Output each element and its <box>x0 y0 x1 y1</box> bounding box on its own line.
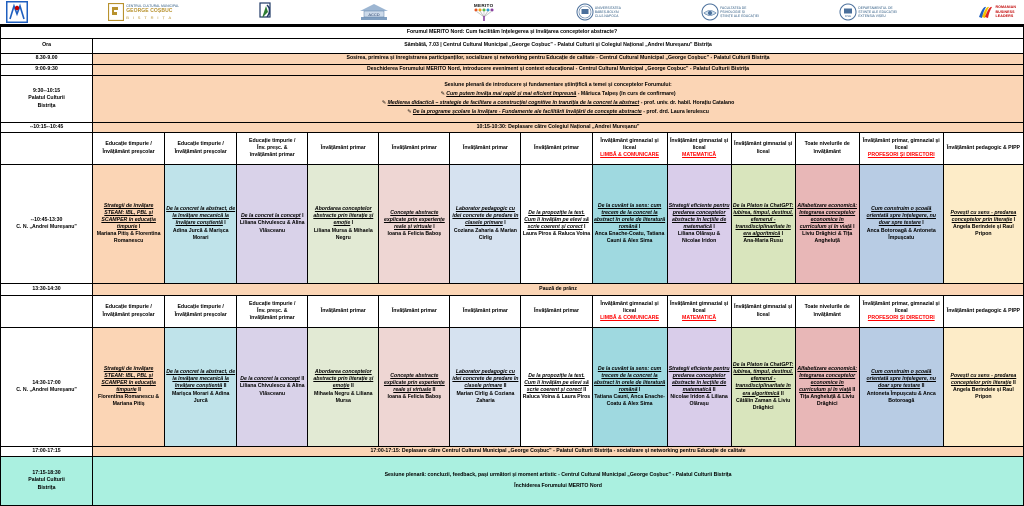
department-education-sciences-logo: DSE DEPARTAMENTUL DE ȘTIINȚE ALE EDUCAȚI… <box>839 0 897 24</box>
time-cell-session-2: 14:30-17:00 C. N. „Andrei Mureșanu" <box>1 328 93 447</box>
closing-plenary-cell: Sesiune plenară: concluzii, feedback, pa… <box>93 457 1024 506</box>
track-header-label: Învățământ gimnazial și liceal <box>669 301 730 315</box>
workshop-number: I <box>712 224 715 230</box>
workshop-number: II <box>920 383 924 389</box>
day-venue-header: Sâmbătă, 7.03 | Centrul Cultural Municip… <box>93 39 1024 54</box>
workshop-presenters: Liliana Olărașu & Nicolae Iridon <box>669 231 730 245</box>
table-row-registration-1: 8.30-9.00 Sosirea, primirea și înregistr… <box>1 54 1024 65</box>
time-cell-plenary: 9:30--10:15 Palatul Culturii Bistrița <box>1 76 93 123</box>
workshop-number: I <box>1012 217 1015 223</box>
opening-activity: Deschiderea Forumului MERITO Nord, intro… <box>93 65 1024 76</box>
workshop-number: II <box>137 387 141 393</box>
workshop-title: Abordarea conceptelor abstracte prin lit… <box>313 206 373 226</box>
track-header-13: Învățământ pedagogic & PIPP <box>943 133 1023 165</box>
workshop-number: II <box>431 387 435 393</box>
workshop-cell-7[interactable]: De la propoziție la text. Cum îi învățăm… <box>521 165 592 284</box>
track-header-11: Toate nivelurile de învățământ <box>795 133 859 165</box>
track-header-label: Educație timpurie / Înv. preșc. & învăță… <box>238 301 306 322</box>
time-cell: 17:00-17:15 <box>1 447 93 457</box>
workshop-presenters: Tița Angheluță & Liviu Drăghici <box>797 394 858 408</box>
plenary-session-cell: Sesiune plenară de introducere și fundam… <box>93 76 1024 123</box>
track-header-8: Învățământ gimnazial și licealLIMBĂ & CO… <box>592 296 667 328</box>
workshop-number: I <box>350 220 353 226</box>
sponsor-logo-bar: CENTRUL CULTURAL MUNICIPAL GEORGE COȘBUC… <box>0 0 1024 26</box>
plenary-item-title: De la programe școlare la învățare - Fun… <box>413 109 642 115</box>
workshop-number: I <box>301 213 304 219</box>
workshop-cell-6[interactable]: Laborator pedagogic cu idei concrete de … <box>450 328 521 447</box>
workshop-cell-2[interactable]: De la concret la abstract, de la învățar… <box>165 328 237 447</box>
workshop-number: I <box>780 231 783 237</box>
workshop-presenters: Adina Jurcă & Marișca Morari <box>166 228 235 242</box>
session-2-workshop-row: 14:30-17:00 C. N. „Andrei Mureșanu" Stra… <box>1 328 1024 447</box>
workshop-title: De la concret la concept <box>241 213 301 219</box>
table-row-day: Ora Sâmbătă, 7.03 | Centrul Cultural Mun… <box>1 39 1024 54</box>
track-header-5: Învățământ primar <box>379 296 450 328</box>
table-row-transfer-1: --10:15--10:45 10:15-10:30: Deplasare că… <box>1 123 1024 133</box>
time-col-blank-1 <box>1 133 93 165</box>
workshop-presenters: Mariana Pitiș & Florentina Romanescu <box>94 231 163 245</box>
track-header-label: Învățământ primar <box>309 145 377 152</box>
track-header-5: Învățământ primar <box>379 133 450 165</box>
workshop-title: Laborator pedagogic cu idei concrete de … <box>452 369 518 389</box>
track-header-label: Învățământ gimnazial și liceal <box>669 138 730 152</box>
workshop-number: I <box>432 224 435 230</box>
table-row-transfer-2: 17:00-17:15 17:00-17:15: Deplasare către… <box>1 447 1024 457</box>
track-header-9: Învățământ gimnazial și licealMATEMATICĂ <box>667 296 731 328</box>
ora-column-header: Ora <box>1 39 93 54</box>
workshop-title: Strategii de învățare STEAM: IBL, PBL și… <box>101 366 155 393</box>
logo-line: B I S T R I Ț A <box>126 15 179 20</box>
workshop-presenters: Ioana & Felicia Baboș <box>380 231 448 238</box>
workshop-cell-4[interactable]: Abordarea conceptelor abstracte prin lit… <box>308 165 379 284</box>
workshop-cell-3[interactable]: De la concret la concept IILiliana Chivu… <box>237 328 308 447</box>
workshop-presenters: Florentina Romanescu & Mariana Pitiș <box>94 394 163 408</box>
track-header-label: Învățământ primar <box>522 308 590 315</box>
workshop-presenters: Liviu Drăghici & Tița Angheluță <box>797 231 858 245</box>
workshop-presenters: Cătălin Zaman & Liviu Drăghici <box>733 398 794 412</box>
plenary-item-speaker: - prof. univ. dr. habil. Horațiu Catalan… <box>639 100 734 106</box>
workshop-presenters: Angela Berindeie și Raul Pripon <box>945 387 1022 401</box>
workshop-cell-5[interactable]: Concepte abstracte explicate prin experi… <box>379 165 450 284</box>
time-cell: --10:15--10:45 <box>1 123 93 133</box>
track-header-1: Educație timpurie / Învățământ preșcolar <box>93 133 165 165</box>
registration-activity: Sosirea, primirea și înregistrarea parti… <box>93 54 1024 65</box>
table-row-closing: 17:15-18:30 Palatul Culturii Bistrița Se… <box>1 457 1024 506</box>
workshop-cell-13[interactable]: Povești cu sens - predarea conceptelor p… <box>943 165 1023 284</box>
workshop-cell-8[interactable]: De la cuvânt la sens: cum trecem de la c… <box>592 328 667 447</box>
workshop-number: I <box>852 224 855 230</box>
session-1-workshop-row: --10:45-13:30 C. N. „Andrei Mureșanu" St… <box>1 165 1024 284</box>
track-header-label: Educație timpurie / Învățământ preșcolar <box>94 304 163 318</box>
workshop-cell-2[interactable]: De la concret la abstract, de la învățar… <box>165 165 237 284</box>
workshop-number: I <box>637 387 640 393</box>
time-col-blank-2 <box>1 296 93 328</box>
workshop-title: De la propoziție la text. Cum îi învățăm… <box>524 210 589 230</box>
track-header-label: Educație timpurie / Învățământ preșcolar <box>166 304 235 318</box>
track-header-label: Învățământ pedagogic & PIPP <box>945 308 1022 315</box>
workshop-cell-8[interactable]: De la cuvânt la sens: cum trecem de la c… <box>592 165 667 284</box>
romanian-business-leaders-logo: ROMANIAN BUSINESS LEADERS <box>977 0 1016 24</box>
workshop-presenters: Liliana Mursa & Mihaela Negru <box>309 228 377 242</box>
workshop-title: De la Platon la ChatGPT: iubirea, timpul… <box>733 203 793 237</box>
svg-text:ACCD: ACCD <box>369 12 380 17</box>
track-header-label: Învățământ primar <box>451 145 519 152</box>
workshop-title: Alfabetizare economică: Integrarea conce… <box>797 203 857 230</box>
cn-andrei-muresanu-logo <box>6 0 28 24</box>
track-header-7: Învățământ primar <box>521 296 592 328</box>
workshop-cell-12[interactable]: Cum construim o școală orientată spre în… <box>859 328 943 447</box>
forum-schedule-table: Forumul MERITO Nord: Cum facilităm înțel… <box>0 26 1024 506</box>
track-header-6: Învățământ primar <box>450 296 521 328</box>
track-header-3: Educație timpurie / Înv. preșc. & învăță… <box>237 133 308 165</box>
track-header-label: Educație timpurie / Învățământ preșcolar <box>94 141 163 155</box>
plenary-item: ✎ Cum putem învăța mai rapid și mai efic… <box>94 90 1022 99</box>
track-header-7: Învățământ primar <box>521 133 592 165</box>
workshop-presenters: Mihaela Negru & Liliana Mursa <box>309 391 377 405</box>
workshop-cell-13[interactable]: Povești cu sens - predarea conceptelor p… <box>943 328 1023 447</box>
workshop-presenters: Anca Enache-Coatu, Tatiana Cauni & Alex … <box>594 231 666 245</box>
track-header-label: Învățământ primar, gimnazial și liceal <box>861 301 942 315</box>
session-2-header-row: Educație timpurie / Învățământ preșcolar… <box>1 296 1024 328</box>
workshop-number: II <box>851 387 855 393</box>
transfer-activity-2: 17:00-17:15: Deplasare către Centrul Cul… <box>93 447 1024 457</box>
lunch-break: Pauză de prânz <box>93 284 1024 296</box>
table-row-plenary: 9:30--10:15 Palatul Culturii Bistrița Se… <box>1 76 1024 123</box>
track-header-subject: LIMBĂ & COMUNICARE <box>594 315 666 322</box>
workshop-cell-3[interactable]: De la concret la concept ILiliana Chivul… <box>237 165 308 284</box>
workshop-cell-6[interactable]: Laborator pedagogic cu idei concrete de … <box>450 165 521 284</box>
plenary-item-title: Cum putem învăța mai rapid și mai eficie… <box>446 91 576 97</box>
workshop-title: De la Platon la ChatGPT: iubirea, timpul… <box>733 362 793 396</box>
workshop-cell-11[interactable]: Alfabetizare economică: Integrarea conce… <box>795 328 859 447</box>
university-logo: UNIVERSITATEA BABEȘ-BOLYAI CLUJ-NAPOCA <box>576 0 621 24</box>
workshop-number: II <box>300 376 304 382</box>
workshop-title: De la propoziție la text. Cum îi învățăm… <box>524 373 589 393</box>
george-cosbuc-cultural-center-logo: CENTRUL CULTURAL MUNICIPAL GEORGE COȘBUC… <box>108 0 179 24</box>
time-cell: 13:30-14:30 <box>1 284 93 296</box>
track-header-label: Învățământ primar <box>380 145 448 152</box>
workshop-title: Concepte abstracte explicate prin experi… <box>384 210 445 230</box>
workshop-presenters: Nicolae Iridon & Liliana Olărașu <box>669 394 730 408</box>
workshop-presenters: Antoneta Împușcatu & Anca Botoroagă <box>861 391 942 405</box>
logo-line: ȘTIINȚE ALE EDUCAȚIEI <box>720 14 759 18</box>
track-header-label: Educație timpurie / Învățământ preșcolar <box>166 141 235 155</box>
workshop-presenters: Ana-Maria Rusu <box>733 238 794 245</box>
merito-logo: MERITO <box>472 0 496 24</box>
logo-line: GEORGE COȘBUC <box>126 8 179 14</box>
closing-line-1: Sesiune plenară: concluzii, feedback, pa… <box>94 470 1022 481</box>
track-header-label: Învățământ gimnazial și liceal <box>594 138 666 152</box>
workshop-presenters: Liliana Chivulescu & Alina Vlăsceanu <box>238 383 306 397</box>
workshop-presenters: Coziana Zaharia & Marian Cîrlig <box>451 228 519 242</box>
workshop-title: Povești cu sens - predarea conceptelor p… <box>951 210 1017 223</box>
logo-line: CLUJ-NAPOCA <box>595 14 621 18</box>
track-header-4: Învățământ primar <box>308 296 379 328</box>
workshop-number: II <box>711 387 715 393</box>
workshop-title: Abordarea conceptelor abstracte prin lit… <box>313 369 373 389</box>
workshop-title: Strategii eficiente pentru predarea conc… <box>669 366 730 393</box>
track-header-subject: PROFESORI ȘI DIRECTORI <box>861 152 942 159</box>
plenary-heading: Sesiune plenară de introducere și fundam… <box>94 81 1022 90</box>
workshop-presenters: Marișca Morari & Adina Jurcă <box>166 391 235 405</box>
workshop-number: II <box>222 383 226 389</box>
logo-line: EXTENSIA VIȘEU <box>858 14 897 18</box>
workshop-cell-10[interactable]: De la Platon la ChatGPT: iubirea, timpul… <box>731 328 795 447</box>
workshop-cell-4[interactable]: Abordarea conceptelor abstracte prin lit… <box>308 328 379 447</box>
logo-line: LEADERS <box>995 14 1016 18</box>
track-header-12: Învățământ primar, gimnazial și licealPR… <box>859 296 943 328</box>
plenary-item-speaker: - Măriuca Talpeș (în curs de confirmare) <box>576 91 675 97</box>
workshop-presenters: Ioana & Felicia Baboș <box>380 394 448 401</box>
track-header-label: Învățământ gimnazial și liceal <box>594 301 666 315</box>
workshop-presenters: Liliana Chivulescu & Alina Vlăsceanu <box>238 220 306 234</box>
track-header-label: Toate nivelurile de învățământ <box>797 304 858 318</box>
track-header-label: Învățământ primar <box>522 145 590 152</box>
workshop-title: Strategii de învățare STEAM: IBL, PBL și… <box>101 203 155 230</box>
track-header-subject: PROFESORI ȘI DIRECTORI <box>861 315 942 322</box>
workshop-number: I <box>583 224 586 230</box>
workshop-number: I <box>921 220 924 226</box>
track-header-11: Toate nivelurile de învățământ <box>795 296 859 328</box>
track-header-13: Învățământ pedagogic & PIPP <box>943 296 1023 328</box>
session-1-header-row: Educație timpurie / Învățământ preșcolar… <box>1 133 1024 165</box>
workshop-cell-11[interactable]: Alfabetizare economică: Integrarea conce… <box>795 165 859 284</box>
workshop-title: Concepte abstracte explicate prin experi… <box>384 373 445 393</box>
workshop-title: Cum construim o școală orientată spre în… <box>867 206 936 226</box>
workshop-cell-1[interactable]: Strategii de învățare STEAM: IBL, PBL și… <box>93 165 165 284</box>
workshop-title: De la concret la concept <box>240 376 300 382</box>
track-header-1: Educație timpurie / Învățământ preșcolar <box>93 296 165 328</box>
workshop-title: Laborator pedagogic cu idei concrete de … <box>452 206 518 226</box>
workshop-number: I <box>503 220 506 226</box>
workshop-cell-10[interactable]: De la Platon la ChatGPT: iubirea, timpul… <box>731 165 795 284</box>
page-title: Forumul MERITO Nord: Cum facilităm înțel… <box>1 27 1024 39</box>
time-cell: 8.30-9.00 <box>1 54 93 65</box>
workshop-presenters: Angela Berindeie și Raul Pripon <box>945 224 1022 238</box>
workshop-presenters: Anca Botoroagă & Antoneta Împușcatu <box>861 228 942 242</box>
workshop-cell-9[interactable]: Strategii eficiente pentru predarea conc… <box>667 328 731 447</box>
workshop-number: II <box>582 387 586 393</box>
track-header-9: Învățământ gimnazial și licealMATEMATICĂ <box>667 133 731 165</box>
plenary-item: ✎ Medierea didactică – strategie de faci… <box>94 99 1022 108</box>
transfer-activity: 10:15-10:30: Deplasare către Colegiul Na… <box>93 123 1024 133</box>
plenary-item: ✎ De la programe școlare la învățare - F… <box>94 108 1022 117</box>
track-header-12: Învățământ primar, gimnazial și licealPR… <box>859 133 943 165</box>
track-header-subject: LIMBĂ & COMUNICARE <box>594 152 666 159</box>
track-header-label: Învățământ primar, gimnazial și liceal <box>861 138 942 152</box>
plenary-item-title: Medierea didactică – strategie de facili… <box>388 100 640 106</box>
workshop-cell-9[interactable]: Strategii eficiente pentru predarea conc… <box>667 165 731 284</box>
time-cell: 9:00-9:30 <box>1 65 93 76</box>
track-header-3: Educație timpurie / Înv. preșc. & învăță… <box>237 296 308 328</box>
table-row-title: Forumul MERITO Nord: Cum facilităm înțel… <box>1 27 1024 39</box>
workshop-title: De la cuvânt la sens: cum trecem de la c… <box>594 203 665 230</box>
track-header-subject: MATEMATICĂ <box>669 315 730 322</box>
workshop-cell-5[interactable]: Concepte abstracte explicate prin experi… <box>379 328 450 447</box>
workshop-presenters: Marian Cîrlig & Coziana Zaharia <box>451 391 519 405</box>
table-row-lunch: 13:30-14:30 Pauză de prânz <box>1 284 1024 296</box>
accd-logo: ACCD <box>357 0 391 24</box>
track-header-4: Învățământ primar <box>308 133 379 165</box>
time-cell-closing: 17:15-18:30 Palatul Culturii Bistrița <box>1 457 93 506</box>
track-header-2: Educație timpurie / Învățământ preșcolar <box>165 296 237 328</box>
track-header-10: Învățământ gimnazial și liceal <box>731 133 795 165</box>
track-header-label: Educație timpurie / Înv. preșc. & învăță… <box>238 138 306 159</box>
workshop-presenters: Laura Piros & Raluca Voina <box>522 231 590 238</box>
track-header-label: Învățământ gimnazial și liceal <box>733 141 794 155</box>
track-header-label: Învățământ primar <box>309 308 377 315</box>
workshop-cell-12[interactable]: Cum construim o școală orientată spre în… <box>859 165 943 284</box>
workshop-title: Alfabetizare economică: Integrarea conce… <box>797 366 857 393</box>
workshop-number: I <box>137 224 140 230</box>
track-header-10: Învățământ gimnazial și liceal <box>731 296 795 328</box>
track-header-label: Învățământ primar <box>451 308 519 315</box>
track-header-label: Învățământ pedagogic & PIPP <box>945 145 1022 152</box>
workshop-cell-7[interactable]: De la propoziție la text. Cum îi învățăm… <box>521 328 592 447</box>
track-header-label: Învățământ gimnazial și liceal <box>733 304 794 318</box>
track-header-6: Învățământ primar <box>450 133 521 165</box>
track-header-label: Toate nivelurile de învățământ <box>797 141 858 155</box>
plenary-item-list: ✎ Cum putem învăța mai rapid și mai efic… <box>94 90 1022 117</box>
time-cell-session-1: --10:45-13:30 C. N. „Andrei Mureșanu" <box>1 165 93 284</box>
workshop-number: I <box>223 220 226 226</box>
workshop-title: De la cuvânt la sens: cum trecem de la c… <box>594 366 665 393</box>
workshop-number: I <box>637 224 640 230</box>
workshop-title: Cum construim o școală orientată spre în… <box>867 369 936 389</box>
workshop-cell-1[interactable]: Strategii de învățare STEAM: IBL, PBL și… <box>93 328 165 447</box>
workshop-title: Strategii eficiente pentru predarea conc… <box>669 203 730 230</box>
table-row-opening: 9:00-9:30 Deschiderea Forumului MERITO N… <box>1 65 1024 76</box>
workshop-number: II <box>779 391 783 397</box>
track-header-2: Educație timpurie / Învățământ preșcolar <box>165 133 237 165</box>
workshop-presenters: Raluca Voina & Laura Piros <box>522 394 590 401</box>
track-header-8: Învățământ gimnazial și licealLIMBĂ & CO… <box>592 133 667 165</box>
workshop-presenters: Tatiana Cauni, Anca Enache-Coatu & Alex … <box>594 394 666 408</box>
plenary-item-speaker: - prof. drd. Laura Ierulescu <box>642 109 709 115</box>
faculty-psychology-education-logo: FACULTATEA DE PSIHOLOGIE ȘI ȘTIINȚE ALE … <box>701 0 759 24</box>
track-header-label: Învățământ primar <box>380 308 448 315</box>
track-header-subject: MATEMATICĂ <box>669 152 730 159</box>
svg-text:DSE: DSE <box>845 14 851 18</box>
workshop-number: II <box>502 383 506 389</box>
workshop-number: II <box>1012 380 1016 386</box>
workshop-number: II <box>350 383 354 389</box>
institution-monogram-logo <box>259 0 277 24</box>
workshop-title: Povești cu sens - predarea conceptelor p… <box>951 373 1017 386</box>
